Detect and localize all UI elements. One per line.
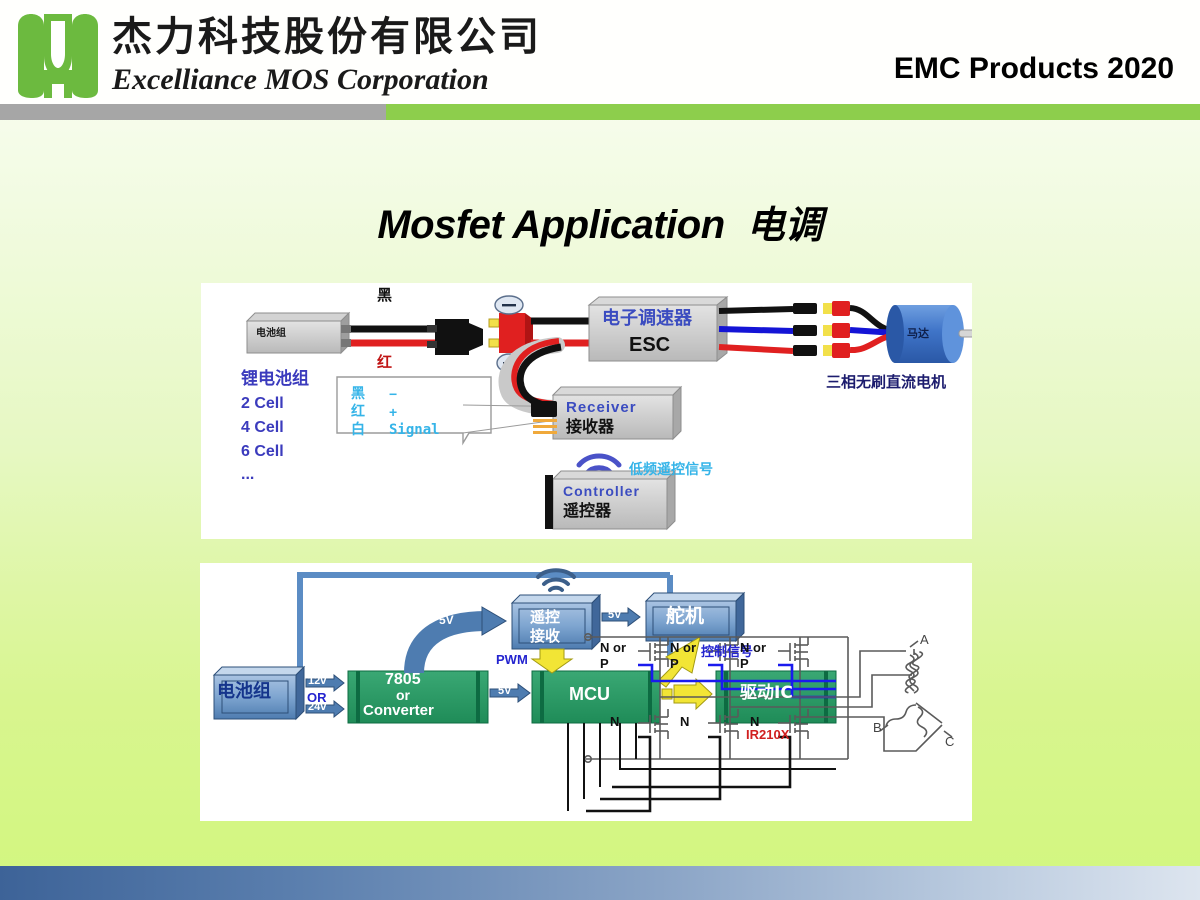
highside-label-1a: N or xyxy=(600,641,626,654)
phase-c-label: C xyxy=(945,735,954,748)
header-product-title: EMC Products 2020 xyxy=(894,52,1174,86)
phase-b-label: B xyxy=(873,721,882,734)
connector-red-label: 红 xyxy=(377,355,392,370)
controller-module-graphic xyxy=(545,471,675,529)
highside-label-2a: N or xyxy=(670,641,696,654)
pwm-label: PWM xyxy=(496,653,528,666)
cell-option-2: 2 Cell xyxy=(241,396,284,412)
phase-a-label: A xyxy=(920,633,929,646)
legend-red-meaning: + xyxy=(389,405,397,419)
legend-white-meaning: Signal xyxy=(389,423,440,437)
rail-5v-label-mcu: 5V xyxy=(498,686,511,697)
page-title-english: Mosfet Application xyxy=(377,203,724,247)
regulator-label-line2: or xyxy=(396,688,410,702)
bullet-connectors xyxy=(793,301,850,358)
company-name-chinese: 杰力科技股份有限公司 xyxy=(112,14,542,60)
cell-option-6: 6 Cell xyxy=(241,444,284,460)
lowside-label-1: N xyxy=(610,715,619,728)
controller-label-chinese: 遥控器 xyxy=(563,503,611,519)
header-divider-gray xyxy=(0,104,386,120)
voltage-12v-label: 12v xyxy=(308,676,326,687)
legend-white-wire: 白 xyxy=(351,423,365,437)
battery-block-label-2: 电池组 xyxy=(217,683,271,701)
connector-black-label: 黑 xyxy=(377,288,392,303)
highside-label-1b: P xyxy=(600,657,609,670)
esc-label-chinese: 电子调速器 xyxy=(602,310,692,328)
battery-block-label: 电池组 xyxy=(256,329,286,339)
receiver-label-line1: 遥控 xyxy=(530,610,560,625)
rf-signal-label: 低频遥控信号 xyxy=(629,463,713,477)
highside-label-2b: P xyxy=(670,657,679,670)
receiver-label-chinese: 接收器 xyxy=(566,419,614,435)
motor-caption: 三相无刷直流电机 xyxy=(826,375,946,390)
rail-5v-label-servo: 5V xyxy=(608,610,621,621)
footer-accent-bar xyxy=(0,866,1200,900)
voltage-24v-label: 24v xyxy=(308,702,326,713)
slide-background: 杰力科技股份有限公司 Excelliance MOS Corporation E… xyxy=(0,0,1200,900)
deans-connector-black xyxy=(427,319,483,355)
legend-black-meaning: − xyxy=(389,387,397,401)
excelliance-mos-logo-icon xyxy=(12,12,104,100)
motor-windings xyxy=(886,649,942,751)
mcu-label: MCU xyxy=(569,685,610,703)
low-gate-traces xyxy=(586,737,790,811)
arrow-5v-to-receiver xyxy=(414,607,506,673)
driver-part-number: IR210X xyxy=(746,728,789,741)
legend-red-wire: 红 xyxy=(351,405,365,419)
battery-caption: 锂电池组 xyxy=(241,371,309,388)
esc-wiring-diagram-panel: 电池组 锂电池组 2 Cell 4 Cell 6 Cell ... 黑 红 黑 … xyxy=(201,283,972,539)
esc-label-english: ESC xyxy=(629,335,670,355)
brand-text-block: 杰力科技股份有限公司 Excelliance MOS Corporation xyxy=(112,14,542,98)
lowside-label-2: N xyxy=(680,715,689,728)
regulator-label-line3: Converter xyxy=(363,703,434,718)
motor-label: 马达 xyxy=(907,328,929,339)
driver-ic-label: 驱动IC xyxy=(740,685,793,702)
page-title-chinese: 电调 xyxy=(747,203,823,247)
regulator-label-line1: 7805 xyxy=(385,672,421,688)
cell-option-4: 4 Cell xyxy=(241,420,284,436)
highside-label-3b: P xyxy=(740,657,749,670)
rail-5v-label-receiver: 5V xyxy=(439,614,454,626)
receiver-label-line2: 接收 xyxy=(530,629,560,644)
company-name-english: Excelliance MOS Corporation xyxy=(112,62,542,98)
servo-label: 舵机 xyxy=(666,607,704,626)
bldc-motor-graphic xyxy=(886,305,972,363)
receiver-label-english: Receiver xyxy=(566,400,637,415)
arrow-mcu-to-driver xyxy=(662,679,712,709)
header-divider-green xyxy=(386,104,1200,120)
pwm-arrow xyxy=(532,649,572,673)
highside-label-3a: N or xyxy=(740,641,766,654)
cell-option-more: ... xyxy=(241,467,254,483)
page-title: Mosfet Application电调 xyxy=(0,194,1200,249)
controller-label-english: Controller xyxy=(563,484,640,498)
legend-black-wire: 黑 xyxy=(351,387,365,401)
lowside-label-3: N xyxy=(750,715,759,728)
bldc-block-diagram-panel: 电池组 12v OR 24v 7805 or Converter 5V MCU … xyxy=(200,563,972,821)
